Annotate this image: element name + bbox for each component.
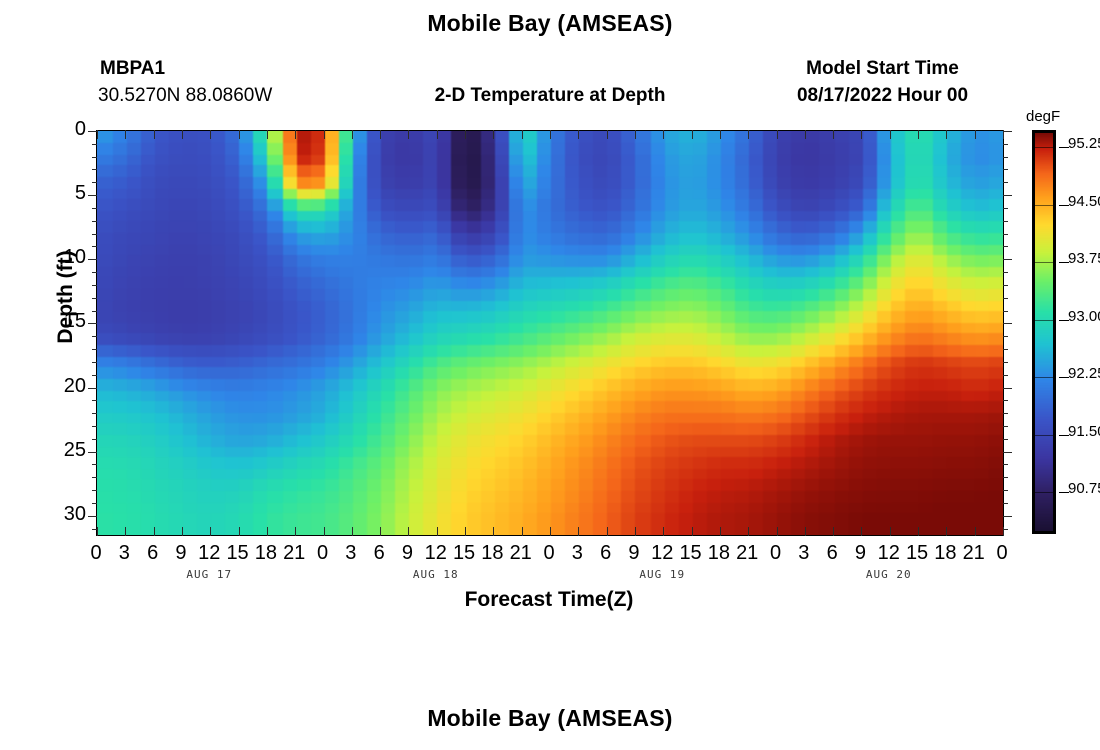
- model-start-time-value: 08/17/2022 Hour 00: [760, 85, 1005, 107]
- x-tick-top: [777, 130, 778, 139]
- x-tick-top: [975, 130, 976, 139]
- x-tick: [578, 527, 579, 536]
- y-minor-tick: [92, 285, 97, 286]
- page-title: Mobile Bay (AMSEAS): [0, 10, 1100, 37]
- x-tick: [748, 527, 749, 536]
- y-minor-tick: [92, 464, 97, 465]
- y-tick-label: 30: [46, 503, 86, 526]
- x-tick: [692, 527, 693, 536]
- y-minor-tick: [92, 311, 97, 312]
- y-tick-right: [1003, 259, 1012, 260]
- y-tick: [88, 131, 97, 132]
- x-tick-top: [408, 130, 409, 139]
- x-tick-top: [295, 130, 296, 139]
- x-tick-top: [890, 130, 891, 139]
- x-tick: [550, 527, 551, 536]
- x-tick-top: [578, 130, 579, 139]
- y-minor-tick: [92, 336, 97, 337]
- x-tick: [210, 527, 211, 536]
- y-minor-tick: [92, 221, 97, 222]
- colorbar-tick-label: 94.500: [1068, 193, 1100, 210]
- y-tick: [88, 388, 97, 389]
- x-tick: [861, 527, 862, 536]
- station-id-label: MBPA1: [100, 58, 165, 80]
- x-tick: [324, 527, 325, 536]
- x-tick: [97, 527, 98, 536]
- y-minor-tick: [92, 375, 97, 376]
- y-tick: [88, 259, 97, 260]
- x-tick-top: [946, 130, 947, 139]
- y-minor-tick-right: [1003, 503, 1008, 504]
- y-minor-tick: [92, 490, 97, 491]
- x-tick: [408, 527, 409, 536]
- colorbar-tick-label: 91.500: [1068, 423, 1100, 440]
- y-minor-tick-right: [1003, 426, 1008, 427]
- colorbar-units-label: degF: [1026, 108, 1060, 125]
- x-tick-top: [125, 130, 126, 139]
- y-minor-tick-right: [1003, 349, 1008, 350]
- x-tick-top: [380, 130, 381, 139]
- colorbar-tick-inner: [1035, 435, 1053, 436]
- y-tick-right: [1003, 323, 1012, 324]
- y-tick: [88, 452, 97, 453]
- y-minor-tick-right: [1003, 169, 1008, 170]
- y-minor-tick-right: [1003, 234, 1008, 235]
- y-minor-tick-right: [1003, 157, 1008, 158]
- heatmap-plot-area: [96, 130, 1004, 536]
- y-minor-tick: [92, 529, 97, 530]
- y-minor-tick: [92, 400, 97, 401]
- colorbar-tick-inner: [1035, 262, 1053, 263]
- y-minor-tick: [92, 298, 97, 299]
- x-day-label: AUG 19: [602, 568, 722, 581]
- y-minor-tick: [92, 182, 97, 183]
- y-minor-tick: [92, 246, 97, 247]
- y-tick-label: 25: [46, 439, 86, 462]
- y-tick-right: [1003, 516, 1012, 517]
- x-tick: [720, 527, 721, 536]
- y-minor-tick: [92, 169, 97, 170]
- footer-title: Mobile Bay (AMSEAS): [0, 705, 1100, 732]
- y-minor-tick: [92, 426, 97, 427]
- x-day-label: AUG 18: [376, 568, 496, 581]
- y-tick-right: [1003, 388, 1012, 389]
- x-tick: [805, 527, 806, 536]
- x-tick-top: [182, 130, 183, 139]
- x-tick: [182, 527, 183, 536]
- colorbar-tick-inner: [1035, 492, 1053, 493]
- x-tick: [380, 527, 381, 536]
- colorbar-tick-inner: [1035, 320, 1053, 321]
- colorbar: [1032, 130, 1056, 534]
- y-minor-tick: [92, 349, 97, 350]
- y-minor-tick-right: [1003, 375, 1008, 376]
- x-tick-top: [210, 130, 211, 139]
- x-tick-top: [522, 130, 523, 139]
- y-tick: [88, 323, 97, 324]
- y-minor-tick-right: [1003, 464, 1008, 465]
- x-tick-top: [692, 130, 693, 139]
- y-minor-tick: [92, 144, 97, 145]
- model-start-time-label: Model Start Time: [760, 58, 1005, 80]
- x-tick-top: [465, 130, 466, 139]
- x-tick: [975, 527, 976, 536]
- y-minor-tick-right: [1003, 182, 1008, 183]
- y-minor-tick-right: [1003, 144, 1008, 145]
- x-tick: [267, 527, 268, 536]
- x-tick: [465, 527, 466, 536]
- x-tick: [946, 527, 947, 536]
- x-tick-top: [861, 130, 862, 139]
- y-tick: [88, 195, 97, 196]
- y-minor-tick-right: [1003, 246, 1008, 247]
- x-tick-top: [918, 130, 919, 139]
- temperature-heatmap: [97, 131, 1003, 535]
- x-tick: [352, 527, 353, 536]
- y-minor-tick: [92, 208, 97, 209]
- y-minor-tick: [92, 157, 97, 158]
- x-tick-top: [267, 130, 268, 139]
- y-minor-tick-right: [1003, 272, 1008, 273]
- y-minor-tick: [92, 477, 97, 478]
- colorbar-tick-label: 92.250: [1068, 365, 1100, 382]
- x-tick-top: [748, 130, 749, 139]
- y-minor-tick-right: [1003, 336, 1008, 337]
- y-minor-tick-right: [1003, 400, 1008, 401]
- x-day-label: AUG 20: [829, 568, 949, 581]
- x-tick: [522, 527, 523, 536]
- x-tick: [663, 527, 664, 536]
- x-tick-top: [324, 130, 325, 139]
- x-tick: [239, 527, 240, 536]
- y-axis-title: Depth (ft): [54, 217, 78, 377]
- x-tick-top: [607, 130, 608, 139]
- colorbar-tick-label: 95.250: [1068, 135, 1100, 152]
- y-minor-tick-right: [1003, 208, 1008, 209]
- x-tick: [154, 527, 155, 536]
- x-tick: [437, 527, 438, 536]
- x-tick: [125, 527, 126, 536]
- y-minor-tick-right: [1003, 413, 1008, 414]
- y-tick-right: [1003, 195, 1012, 196]
- colorbar-tick-inner: [1035, 147, 1053, 148]
- x-tick-top: [635, 130, 636, 139]
- y-tick: [88, 516, 97, 517]
- x-day-label: AUG 17: [149, 568, 269, 581]
- y-tick-right: [1003, 131, 1012, 132]
- y-tick-label: 20: [46, 375, 86, 398]
- y-minor-tick: [92, 234, 97, 235]
- x-tick: [890, 527, 891, 536]
- x-tick-top: [97, 130, 98, 139]
- colorbar-tick-label: 93.750: [1068, 250, 1100, 267]
- x-tick-top: [550, 130, 551, 139]
- y-minor-tick: [92, 413, 97, 414]
- plot-subtitle: 2-D Temperature at Depth: [330, 85, 770, 107]
- x-tick: [635, 527, 636, 536]
- x-tick-top: [352, 130, 353, 139]
- y-minor-tick-right: [1003, 285, 1008, 286]
- y-minor-tick-right: [1003, 477, 1008, 478]
- y-minor-tick-right: [1003, 439, 1008, 440]
- y-minor-tick-right: [1003, 362, 1008, 363]
- y-minor-tick: [92, 362, 97, 363]
- x-tick: [918, 527, 919, 536]
- y-tick-label: 5: [46, 182, 86, 205]
- x-tick-top: [833, 130, 834, 139]
- x-tick-label: 0: [982, 542, 1022, 565]
- x-tick-top: [805, 130, 806, 139]
- colorbar-tick-inner: [1035, 377, 1053, 378]
- y-minor-tick-right: [1003, 311, 1008, 312]
- x-tick-top: [437, 130, 438, 139]
- x-tick: [493, 527, 494, 536]
- colorbar-tick-label: 90.750: [1068, 480, 1100, 497]
- colorbar-gradient: [1035, 133, 1053, 531]
- x-tick-top: [154, 130, 155, 139]
- y-minor-tick-right: [1003, 221, 1008, 222]
- y-minor-tick: [92, 272, 97, 273]
- y-minor-tick-right: [1003, 529, 1008, 530]
- y-minor-tick: [92, 503, 97, 504]
- x-tick-top: [239, 130, 240, 139]
- y-minor-tick-right: [1003, 490, 1008, 491]
- x-tick: [777, 527, 778, 536]
- y-tick-label: 0: [46, 118, 86, 141]
- x-tick: [295, 527, 296, 536]
- x-tick-top: [663, 130, 664, 139]
- x-tick-top: [493, 130, 494, 139]
- station-coordinates-label: 30.5270N 88.0860W: [98, 85, 272, 107]
- x-tick-top: [720, 130, 721, 139]
- y-minor-tick-right: [1003, 298, 1008, 299]
- x-tick: [607, 527, 608, 536]
- x-tick: [833, 527, 834, 536]
- colorbar-tick-inner: [1035, 205, 1053, 206]
- y-minor-tick: [92, 439, 97, 440]
- y-tick-right: [1003, 452, 1012, 453]
- colorbar-tick-label: 93.000: [1068, 308, 1100, 325]
- x-axis-title: Forecast Time(Z): [96, 588, 1002, 612]
